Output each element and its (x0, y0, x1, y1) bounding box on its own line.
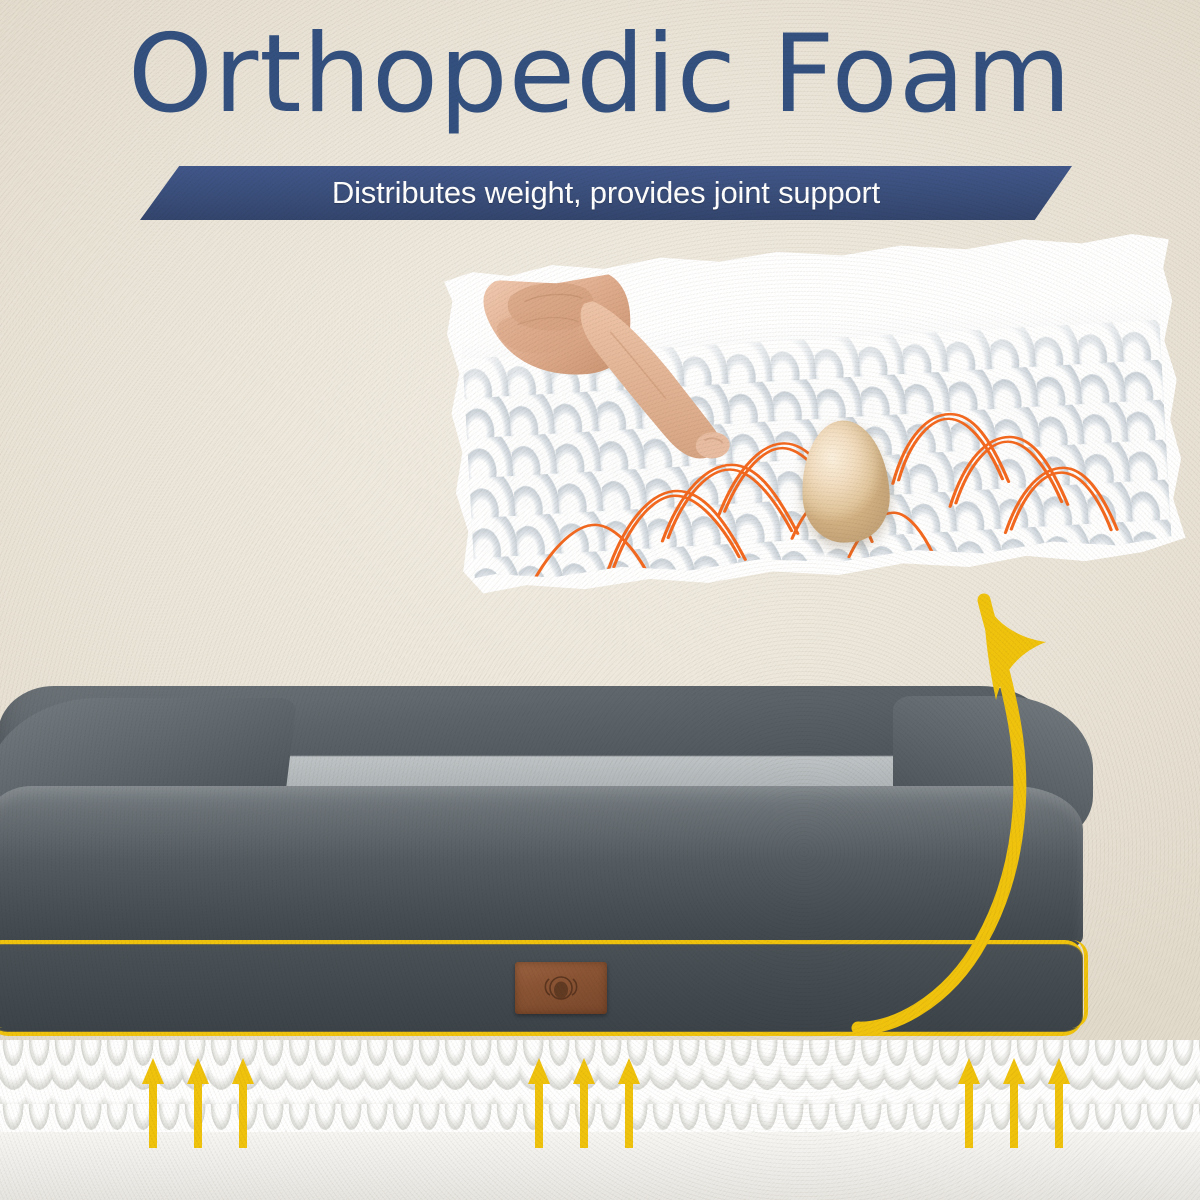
up-arrow-icon (618, 1058, 640, 1148)
up-arrow-icon (958, 1058, 980, 1148)
up-arrow-icon (573, 1058, 595, 1148)
page-title: Orthopedic Foam (0, 18, 1200, 132)
up-arrow-icon (232, 1058, 254, 1148)
up-arrow-icon (528, 1058, 550, 1148)
up-arrow-icon (1048, 1058, 1070, 1148)
up-arrow-icon (142, 1058, 164, 1148)
foam-closeup-inset (443, 228, 1186, 598)
dog-face-icon (541, 970, 581, 1006)
bed-zipper-left-cap (0, 940, 17, 1028)
brand-logo-patch (515, 962, 607, 1014)
support-arrows-right (958, 1058, 1070, 1148)
up-arrow-icon (1003, 1058, 1025, 1148)
foam-closeup-photo (458, 241, 1172, 584)
subtitle-banner: Distributes weight, provides joint suppo… (140, 166, 1072, 220)
bed-zipper-right-cap (1058, 940, 1088, 1028)
product-marketing-image: Orthopedic Foam Distributes weight, prov… (0, 0, 1200, 1200)
bed-mattress-slab (0, 786, 1083, 948)
support-arrows-left (142, 1058, 254, 1148)
up-arrow-icon (187, 1058, 209, 1148)
support-arrows-center (528, 1058, 640, 1148)
subtitle-banner-text: Distributes weight, provides joint suppo… (140, 166, 1072, 220)
dog-bed (0, 690, 1103, 1050)
